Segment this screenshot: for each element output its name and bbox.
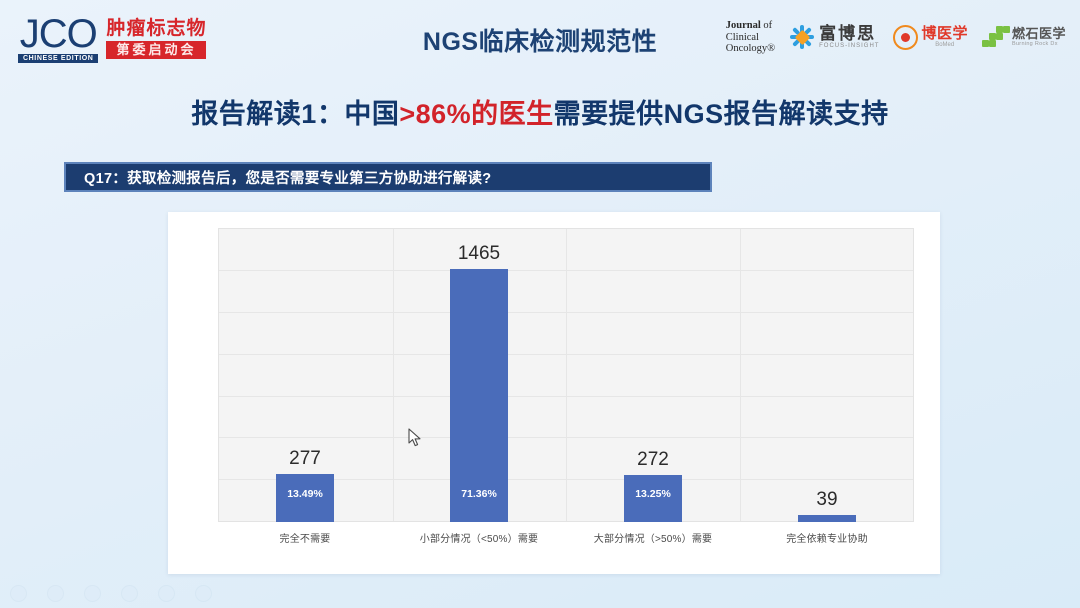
burning-rock-text: 燃石医学 Burning Rock Dx <box>1012 27 1066 47</box>
bar-slot: 27213.25% <box>566 228 740 522</box>
x-axis-category-label: 小部分情况（<50%）需要 <box>392 530 566 545</box>
bomed-en: BoMed <box>921 42 968 48</box>
journal-of-clinical-oncology-logo: Journal of Clinical Oncology® <box>726 20 775 55</box>
burning-rock-en: Burning Rock Dx <box>1012 41 1066 47</box>
watermark-icon-2 <box>47 585 64 602</box>
chart-bar <box>798 515 856 522</box>
bar-percent-label: 13.25% <box>635 488 671 500</box>
partner-logo-group: Journal of Clinical Oncology® 富博思 FOCUS-… <box>726 20 1066 55</box>
ring-icon <box>893 25 918 50</box>
blocks-icon <box>982 25 1008 49</box>
bar-value-label: 277 <box>289 448 321 470</box>
bar-slot: 27713.49% <box>218 228 392 522</box>
subtitle-part-1: 报告解读1：中国 <box>191 99 399 129</box>
bomed-text: 博医学 BoMed <box>921 26 968 48</box>
slide-header: JCO CHINESE EDITION 肿瘤标志物 第委启动会 NGS临床检测规… <box>0 0 1080 78</box>
bar-value-label: 39 <box>816 489 837 511</box>
focus-insight-text: 富博思 FOCUS-INSIGHT <box>819 25 879 49</box>
watermark-icon-3 <box>84 585 101 602</box>
focus-insight-logo: 富博思 FOCUS-INSIGHT <box>789 24 879 50</box>
slide-subtitle: 报告解读1：中国>86%的医生需要提供NGS报告解读支持 <box>0 92 1080 131</box>
jco-word-clinical: Clinical <box>726 32 775 44</box>
watermark-icon-6 <box>195 585 212 602</box>
bar-value-label: 272 <box>637 449 669 471</box>
jco-word-of: of <box>761 20 772 31</box>
bomed-logo: 博医学 BoMed <box>893 25 968 50</box>
chart-bar: 71.36% <box>450 269 508 522</box>
bar-slot: 146571.36% <box>392 228 566 522</box>
chart-card: 27713.49%146571.36%27213.25%39 完全不需要小部分情… <box>168 212 940 574</box>
question-text: Q17：获取检测报告后，您是否需要专业第三方协助进行解读? <box>84 167 491 188</box>
x-axis-category-label: 完全不需要 <box>218 530 392 545</box>
bar-percent-label: 71.36% <box>461 488 497 500</box>
chart-bar: 13.25% <box>624 475 682 522</box>
bar-slot: 39 <box>740 228 914 522</box>
subtitle-part-2: 需要提供NGS报告解读支持 <box>554 99 889 129</box>
bar-value-label: 1465 <box>458 243 500 265</box>
corner-watermark-icons <box>10 585 212 602</box>
watermark-icon-5 <box>158 585 175 602</box>
burst-icon <box>789 24 815 50</box>
jco-word-oncology: Oncology® <box>726 43 775 55</box>
chart-plot-wrapper: 27713.49%146571.36%27213.25%39 <box>218 228 914 522</box>
x-axis-category-label: 大部分情况（>50%）需要 <box>566 530 740 545</box>
subtitle-highlight: >86%的医生 <box>399 99 553 129</box>
chart-bar: 13.49% <box>276 474 334 522</box>
focus-insight-cn: 富博思 <box>819 25 879 43</box>
focus-insight-en: FOCUS-INSIGHT <box>819 43 879 49</box>
jco-word-journal: Journal <box>726 20 761 31</box>
burning-rock-logo: 燃石医学 Burning Rock Dx <box>982 25 1066 49</box>
watermark-icon-4 <box>121 585 138 602</box>
watermark-icon-1 <box>10 585 27 602</box>
bomed-cn: 博医学 <box>921 26 968 42</box>
chart-x-axis-labels: 完全不需要小部分情况（<50%）需要大部分情况（>50%）需要完全依赖专业协助 <box>218 530 914 545</box>
x-axis-category-label: 完全依赖专业协助 <box>740 530 914 545</box>
chart-bars: 27713.49%146571.36%27213.25%39 <box>218 228 914 522</box>
bar-percent-label: 13.49% <box>287 488 323 500</box>
question-banner: Q17：获取检测报告后，您是否需要专业第三方协助进行解读? <box>64 162 712 192</box>
burning-rock-cn: 燃石医学 <box>1012 27 1066 41</box>
